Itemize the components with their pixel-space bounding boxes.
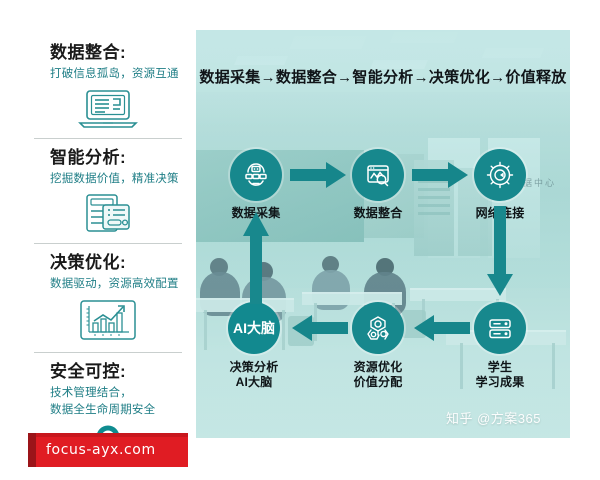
feature-title: 安全可控: [28,361,188,382]
flow-title: 数据采集→数据整合→智能分析→决策优化→价值释放 [196,66,570,87]
label-line-1: 决策分析 [199,360,309,375]
label-line-2: 价值分配 [323,375,433,390]
label-line-1: 资源优化 [323,360,433,375]
flow-arrow-left-resource-to-brain [290,314,348,342]
flow-node-label-students: 学生 学习成果 [445,360,555,390]
flow-node-data-integration[interactable] [352,149,404,201]
feature-block-data-integration: 数据整合: 打破信息孤岛，资源互通 [28,42,188,139]
flow-arrow-right-collect-to-integrate [290,161,348,189]
section-divider [34,243,182,244]
flow-node-data-collection[interactable] [230,149,282,201]
section-divider [34,138,182,139]
ai-brain-node-text: AI大脑 [233,318,275,338]
screenshot-root: 数据整合: 打破信息孤岛，资源互通 智能分析: [0,0,600,480]
network-hub-icon [485,160,515,190]
feature-block-intelligent-analysis: 智能分析: 挖掘数据价值，精准决策 [28,147,188,244]
feature-subtitle-line2: 数据全生命周期安全 [28,402,188,419]
data-cards-icon [28,192,188,236]
feature-title: 决策优化: [28,252,188,273]
flow-node-network-connection[interactable] [474,149,526,201]
data-collect-icon [241,160,271,190]
zhihu-watermark: 知乎 @方案365 [446,408,541,427]
flow-arrow-down-network-to-students [486,206,514,298]
server-stack-icon [485,313,515,343]
flow-node-ai-brain[interactable]: AI大脑 [228,302,280,354]
feature-subtitle: 挖掘数据价值，精准决策 [28,171,188,188]
label-line-2: 学习成果 [445,375,555,390]
banner-left-stripe [28,433,36,467]
flow-arrow-left-students-to-resource [412,314,470,342]
flow-node-label-ai-brain: 决策分析 AI大脑 [199,360,309,390]
flow-node-resource-optimization[interactable] [352,302,404,354]
banner-url-text: focus-ayx.com [28,442,156,458]
feature-block-decision-optimization: 决策优化: 数据驱动，资源高效配置 [28,252,188,353]
data-chart-search-icon [363,160,393,190]
feature-sidebar: 数据整合: 打破信息孤岛，资源互通 智能分析: [28,42,188,432]
label-line-2: AI大脑 [199,375,309,390]
flow-node-label-data-integration: 数据整合 [323,206,433,221]
banner-top-stripe [36,433,188,437]
feature-subtitle: 打破信息孤岛，资源互通 [28,66,188,83]
laptop-icon [28,87,188,131]
flow-arrow-up-brain-to-collect [242,212,270,304]
label-line-1: 学生 [445,360,555,375]
resource-optimize-icon [363,313,393,343]
feature-title: 数据整合: [28,42,188,63]
process-flow-diagram: 数据中心 数据采集 [196,30,570,438]
flow-arrow-right-integrate-to-network [412,161,470,189]
flow-node-students[interactable] [474,302,526,354]
section-divider [34,352,182,353]
feature-subtitle-line1: 技术管理结合， [28,385,188,402]
feature-subtitle: 数据驱动，资源高效配置 [28,276,188,293]
flow-node-label-resource-optimization: 资源优化 价值分配 [323,360,433,390]
bar-chart-growth-icon [28,297,188,345]
watermark-url-banner: focus-ayx.com [28,433,188,467]
feature-title: 智能分析: [28,147,188,168]
label-line-1: 数据整合 [323,206,433,221]
